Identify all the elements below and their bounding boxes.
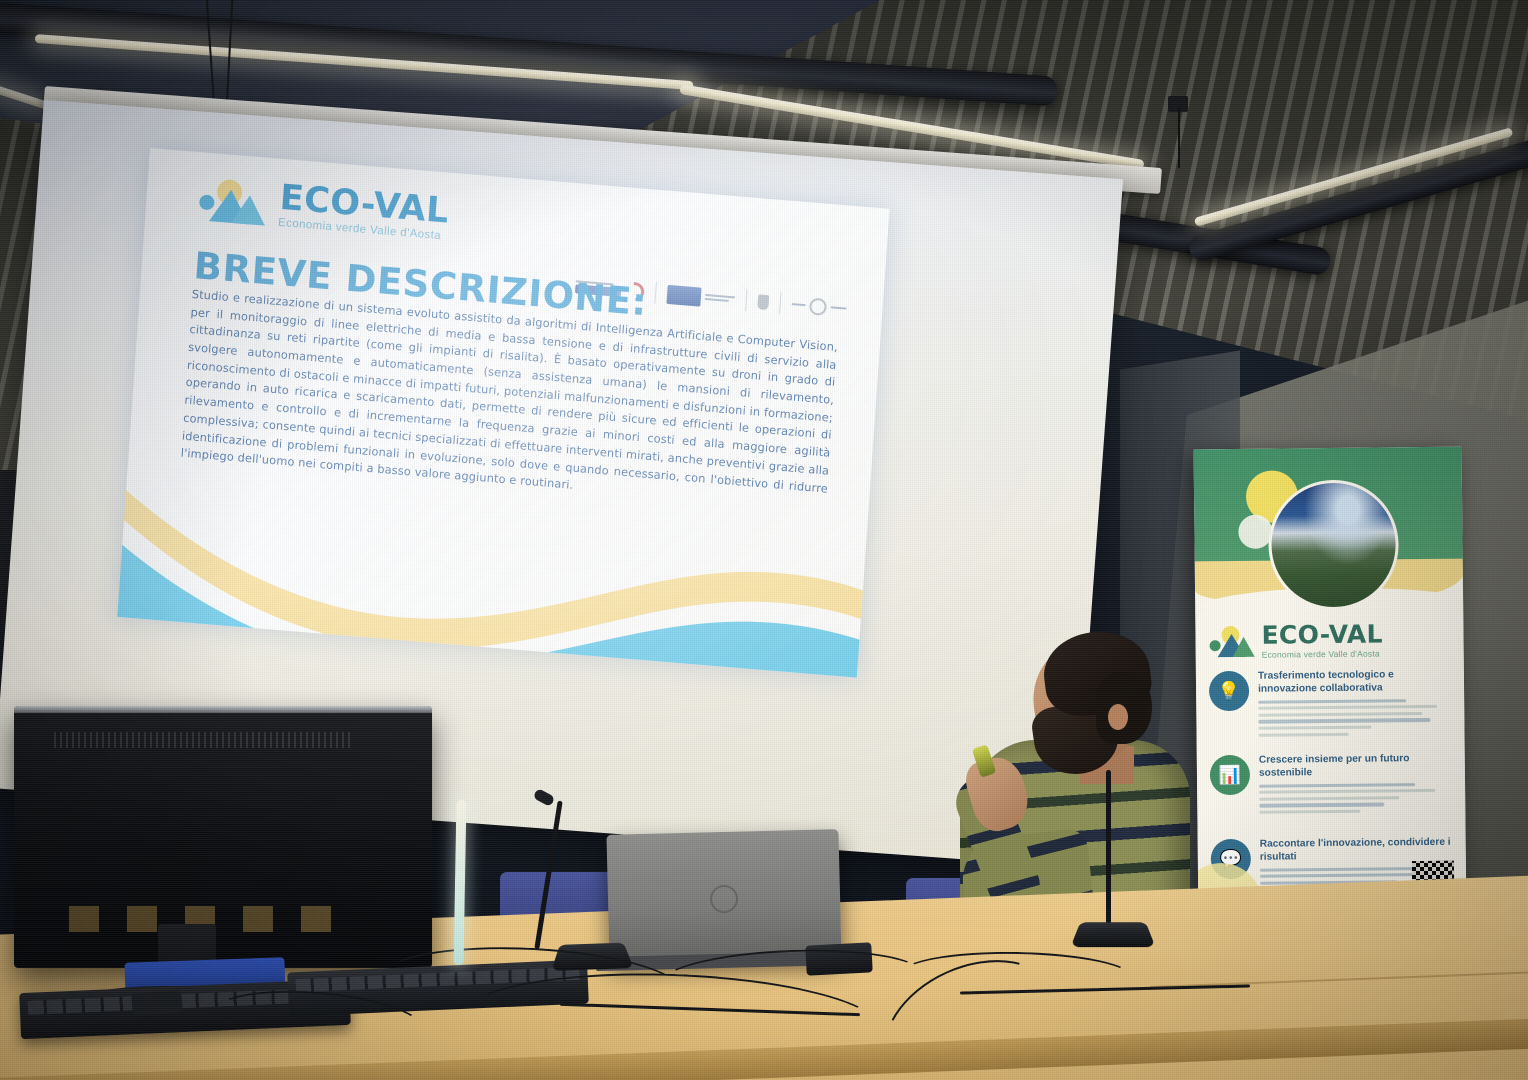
- microphone-base: [1070, 922, 1155, 947]
- ministry-logo: [757, 294, 769, 310]
- hanging-wire: [1178, 108, 1180, 168]
- institutional-logo: [791, 296, 847, 317]
- network-people-icon: 📊: [1210, 755, 1250, 795]
- rollup-banner: ECO-VAL Economia verde Valle d'Aosta 💡 T…: [1194, 447, 1467, 920]
- presentation-room-photo: ECO-VAL Economia verde Valle d'Aosta: [0, 0, 1528, 1080]
- hp-laptop[interactable]: [606, 829, 841, 963]
- banner-logo-tagline: Economia verde Valle d'Aosta: [1262, 648, 1384, 659]
- banner-mountain-photo: [1268, 479, 1399, 610]
- eu-commission-logo: [666, 284, 735, 309]
- ecoval-mountain-sun-icon: [197, 175, 272, 227]
- banner-bubble-graphic: [1238, 515, 1272, 549]
- banner-logo-name: ECO-VAL: [1261, 621, 1383, 647]
- banner-section: 💡 Trasferimento tecnologico e innovazion…: [1209, 669, 1454, 741]
- slide-ecoval-logo: ECO-VAL Economia verde Valle d'Aosta: [197, 174, 450, 243]
- banner-section-heading: Trasferimento tecnologico e innovazione …: [1258, 669, 1453, 697]
- slide-body-text: Studio e realizzazione di un sistema evo…: [180, 286, 838, 516]
- hp-logo-icon: [710, 884, 739, 913]
- desktop-monitor-rear: [14, 706, 432, 968]
- banner-ecoval-logo: ECO-VAL Economia verde Valle d'Aosta: [1209, 621, 1383, 660]
- lightbulb-icon: 💡: [1209, 671, 1249, 711]
- power-adapter: [131, 990, 182, 1015]
- gooseneck-microphone: [1106, 770, 1111, 928]
- ecoval-mountain-sun-icon: [1209, 625, 1255, 657]
- banner-section-heading: Crescere insieme per un futuro sostenibi…: [1259, 753, 1454, 781]
- projected-slide: ECO-VAL Economia verde Valle d'Aosta: [117, 148, 889, 678]
- presenter-ear: [1108, 704, 1128, 730]
- banner-section: 📊 Crescere insieme per un futuro sosteni…: [1210, 753, 1455, 818]
